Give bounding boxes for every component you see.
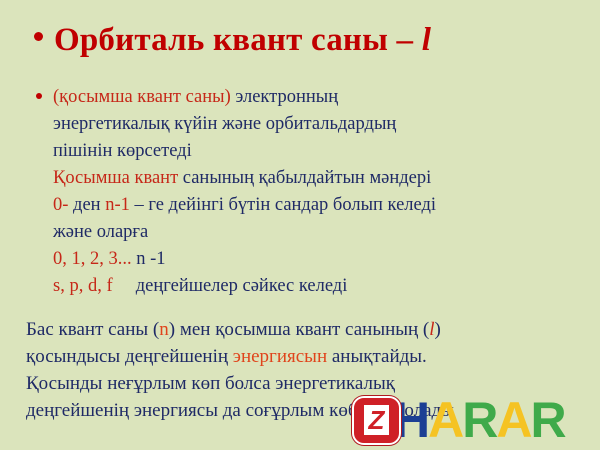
body-line-5-seg-4: – ге дейінгі бүтін сандар болып келеді [130, 195, 436, 215]
body-line-6: және оларға [53, 219, 436, 246]
body-line-5-seg-2: ден [73, 195, 105, 215]
body-line-3-seg-1: пішінін көрсетеді [53, 141, 192, 161]
para-line-2: қосындысы деңгейшенің энергиясын анықтай… [26, 343, 586, 370]
slide-canvas: Орбиталь квант саны – l (қосымша квант с… [0, 0, 600, 450]
para-line-3-seg-1: Қосынды неғұрлым көп болса энергетикалық [26, 373, 395, 394]
body-line-8-seg-2: деңгейшелер сәйкес келеді [113, 276, 348, 296]
body-line-8: s, p, d, f деңгейшелер сәйкес келеді [53, 273, 436, 300]
body-line-5-seg-1: 0- [53, 195, 73, 215]
body-line-5-seg-3: n-1 [105, 195, 130, 215]
body-line-1-seg-2: электронның [231, 87, 338, 107]
body-bullet-icon [36, 93, 42, 99]
para-line-2-seg-1: қосындысы деңгейшенің [26, 346, 233, 367]
title-bullet-icon [34, 32, 43, 41]
body-line-1-seg-1: (қосымша квант саны) [53, 87, 231, 107]
body-line-1: (қосымша квант саны) электронның [53, 84, 436, 111]
para-line-4-seg-1: деңгейшенің энергиясы да соғұрлым көбіре… [26, 400, 454, 421]
body-line-5: 0- ден n-1 – ге дейінгі бүтін сандар бол… [53, 192, 436, 219]
body-line-6-seg-1: және оларға [53, 222, 148, 242]
body-line-4-seg-2: санының қабылдайтын мәндері [178, 168, 431, 188]
body-line-4: Қосымша квант санының қабылдайтын мәндер… [53, 165, 436, 192]
para-line-1-seg-1: Бас квант саны ( [26, 319, 159, 340]
para-line-3: Қосынды неғұрлым көп болса энергетикалық [26, 370, 586, 397]
body-line-3: пішінін көрсетеді [53, 138, 436, 165]
para-line-1: Бас квант саны (n) мен қосымша квант сан… [26, 316, 586, 343]
para-line-1-seg-3: ) мен қосымша квант санының ( [169, 319, 430, 340]
body-line-4-seg-1: Қосымша квант [53, 168, 178, 188]
para-line-1-seg-n: n [159, 319, 169, 340]
body-line-7-seg-1: 0, 1, 2, 3... [53, 249, 132, 269]
body-lines: (қосымша квант саны) электронның энергет… [53, 84, 436, 300]
title-label: Орбиталь квант саны – [54, 22, 422, 58]
summary-paragraph: Бас квант саны (n) мен қосымша квант сан… [26, 316, 586, 424]
slide-title: Орбиталь квант саны – l [34, 24, 431, 57]
body-line-2: энергетикалық күйін және орбитальдардың [53, 111, 436, 138]
body-line-2-seg-1: энергетикалық күйін және орбитальдардың [53, 114, 396, 134]
body-line-8-seg-1: s, p, d, f [53, 276, 113, 296]
body-line-7: 0, 1, 2, 3... n -1 [53, 246, 436, 273]
para-line-2-seg-3: анықтайды. [327, 346, 427, 367]
para-line-1-seg-5: ) [435, 319, 441, 340]
body-bullet-block: (қосымша квант саны) электронның энергет… [36, 84, 584, 300]
para-line-4: деңгейшенің энергиясы да соғұрлым көбіре… [26, 397, 586, 424]
body-line-7-seg-2: n -1 [132, 249, 166, 269]
title-italic-symbol: l [422, 22, 431, 58]
title-text: Орбиталь квант саны – l [54, 24, 431, 57]
para-line-2-highlight: энергиясын [233, 346, 327, 367]
